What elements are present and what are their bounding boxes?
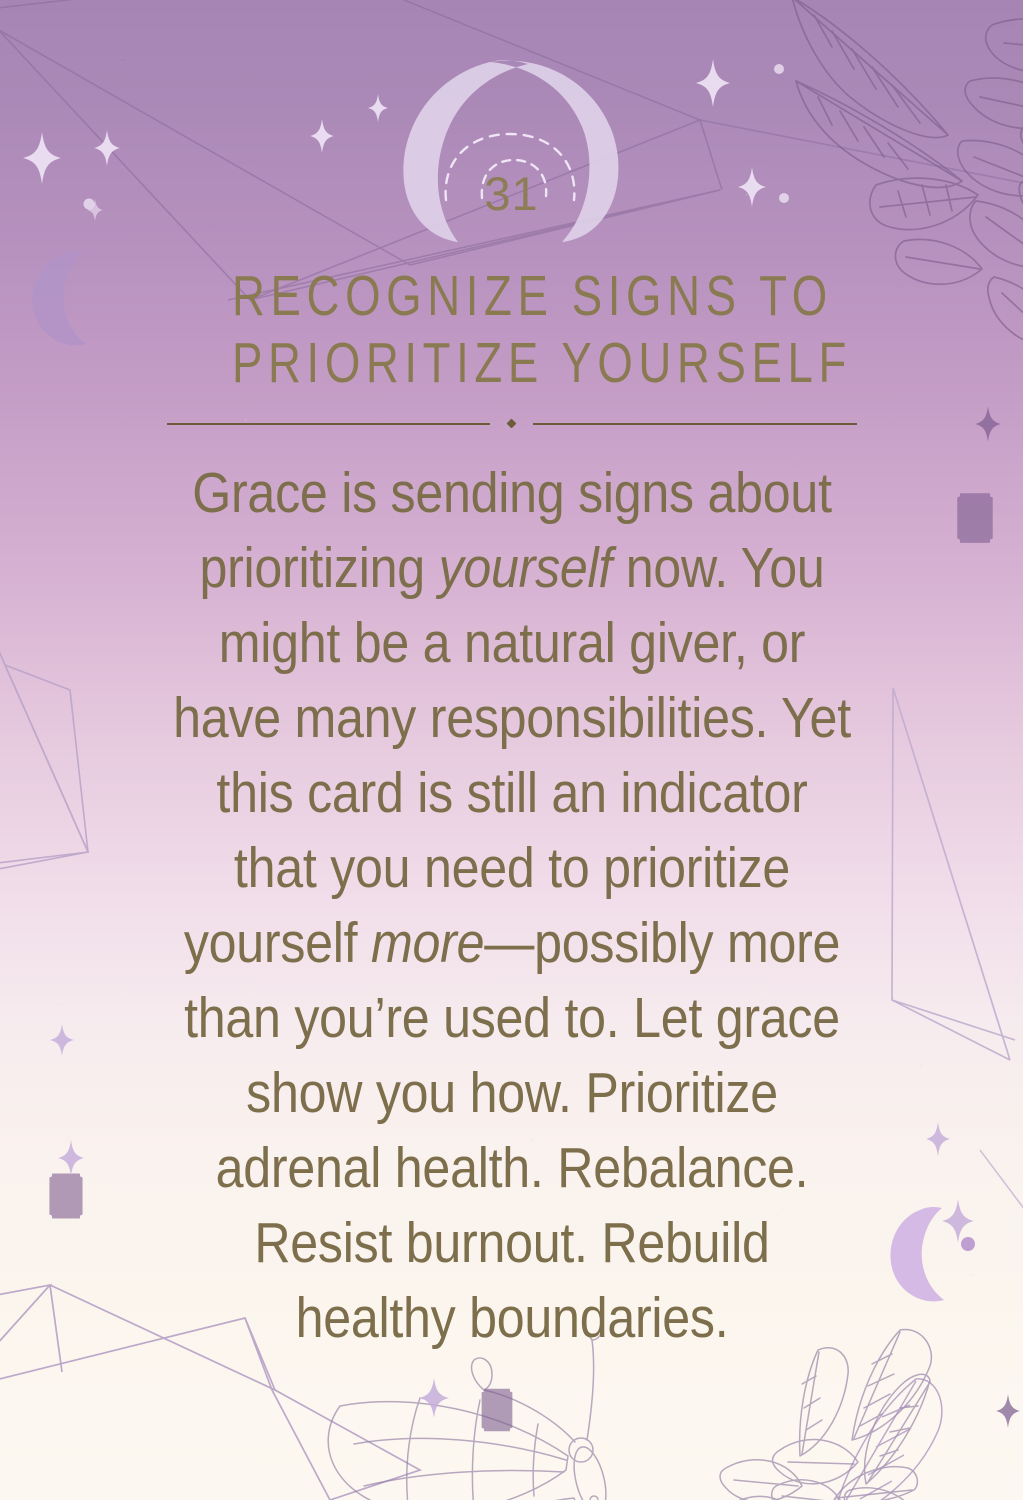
title-line-1: RECOGNIZE SIGNS TO (232, 263, 792, 330)
leaf-bottom-center (832, 1379, 942, 1500)
page-title: RECOGNIZE SIGNS TO PRIORITIZE YOURSELF (232, 263, 792, 398)
body-span: —possibly more than you’re used to. Let … (184, 911, 840, 1350)
card-number: 31 (382, 166, 642, 221)
card-body-text: Grace is sending signs about prioritizin… (168, 456, 854, 1356)
body-emphasis: yourself (438, 536, 612, 600)
divider (167, 414, 857, 434)
divider-diamond-icon (507, 419, 517, 429)
dahlia-flower (675, 1440, 930, 1500)
moon-header: 31 (382, 58, 642, 243)
title-line-2: PRIORITIZE YOURSELF (232, 330, 792, 397)
oracle-card: 31 RECOGNIZE SIGNS TO PRIORITIZE YOURSEL… (0, 0, 1023, 1500)
divider-rule-left (167, 423, 491, 425)
card-content: 31 RECOGNIZE SIGNS TO PRIORITIZE YOURSEL… (0, 0, 1023, 1356)
body-emphasis: more (371, 911, 484, 975)
divider-rule-right (533, 423, 857, 425)
body-span: now. You might be a natural giver, or ha… (173, 536, 851, 975)
